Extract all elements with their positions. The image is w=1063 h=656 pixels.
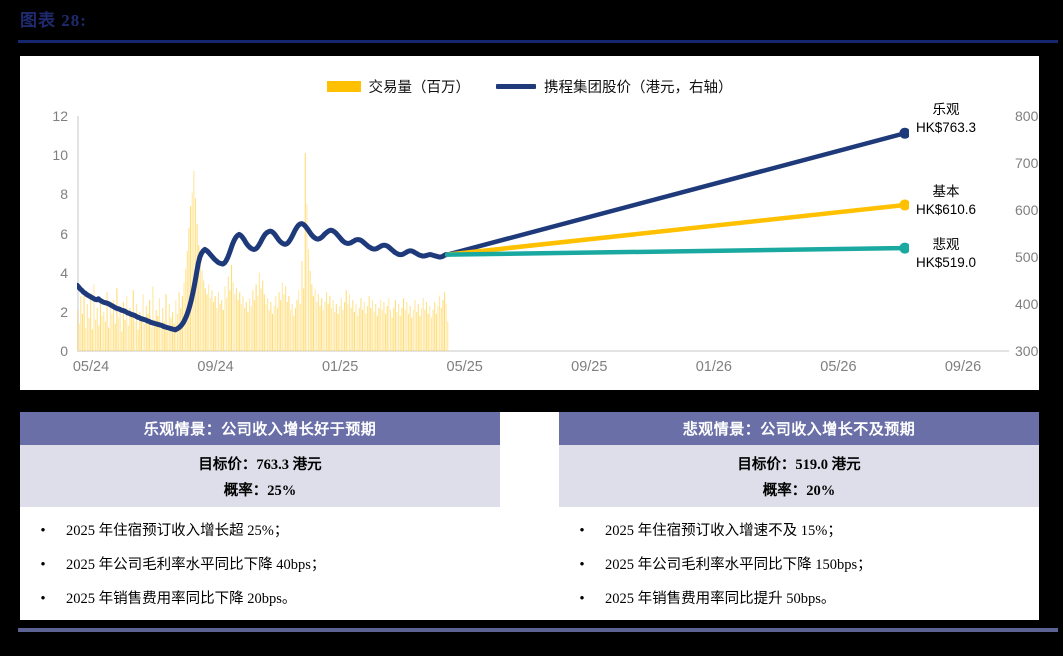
target-price-pessimistic: 目标价：519.0 港元	[737, 453, 860, 474]
y-axis-right-tick: 700	[1015, 155, 1038, 171]
page-title: 图表 28:	[20, 6, 87, 31]
slide-page: 图表 28: 交易量（百万） 携程集团股价（港元，右轴） 024681012 3…	[0, 0, 1063, 656]
forecast-endpoint-pessimistic	[899, 243, 909, 254]
list-item: • 2025 年销售费用率同比提升 50bps。	[559, 587, 1039, 608]
y-axis-left-tick: 6	[60, 226, 68, 242]
y-axis-right-ticks: 300400500600700800	[1015, 116, 1059, 351]
y-axis-left-tick: 10	[52, 147, 68, 163]
chart-plot-area	[77, 116, 909, 351]
list-item-text: 2025 年销售费用率同比下降 20bps。	[66, 587, 296, 608]
bullet-list-pessimistic: • 2025 年住宿预订收入增速不及 15%； • 2025 年公司毛利率水平同…	[559, 507, 1039, 620]
annotation-pessimistic-price: HK$519.0	[916, 254, 976, 272]
bullet-dot-icon: •	[559, 591, 605, 608]
chart-legend: 交易量（百万） 携程集团股价（港元，右轴）	[20, 76, 1039, 97]
bullet-dot-icon: •	[20, 591, 66, 608]
x-axis-tick: 09/24	[197, 359, 233, 375]
list-item-text: 2025 年住宿预订收入增长超 25%；	[66, 519, 288, 540]
forecast-line-optimistic	[447, 133, 905, 254]
bottom-divider	[18, 628, 1058, 632]
y-axis-left-tick: 8	[60, 186, 68, 202]
list-item: • 2025 年公司毛利率水平同比下降 40bps；	[20, 553, 500, 574]
y-axis-left-tick: 2	[60, 304, 68, 320]
list-item-text: 2025 年公司毛利率水平同比下降 40bps；	[66, 553, 325, 574]
scenario-header-optimistic: 乐观情景：公司收入增长好于预期	[20, 412, 500, 445]
bullet-list-optimistic: • 2025 年住宿预订收入增长超 25%； • 2025 年公司毛利率水平同比…	[20, 507, 500, 620]
probability-optimistic: 概率：25%	[224, 479, 297, 500]
x-axis-tick: 01/25	[322, 359, 358, 375]
y-axis-right-tick: 600	[1015, 202, 1038, 218]
scenario-column-optimistic: 乐观情景：公司收入增长好于预期 目标价：763.3 港元 概率：25% • 20…	[20, 412, 500, 620]
annotation-base: 基本 HK$610.6	[916, 183, 976, 219]
list-item: • 2025 年公司毛利率水平同比下降 150bps；	[559, 553, 1039, 574]
x-axis-tick: 09/26	[945, 359, 981, 375]
legend-item-volume: 交易量（百万）	[327, 76, 471, 97]
annotation-base-name: 基本	[916, 183, 976, 201]
list-item-text: 2025 年销售费用率同比提升 50bps。	[605, 587, 835, 608]
y-axis-right-tick: 400	[1015, 296, 1038, 312]
list-item: • 2025 年住宿预订收入增速不及 15%；	[559, 519, 1039, 540]
list-item-text: 2025 年公司毛利率水平同比下降 150bps；	[605, 553, 872, 574]
bullet-dot-icon: •	[20, 523, 66, 540]
annotation-pessimistic: 悲观 HK$519.0	[916, 236, 976, 272]
y-axis-right-tick: 300	[1015, 343, 1038, 359]
forecast-endpoint-base	[899, 200, 909, 211]
annotation-optimistic-price: HK$763.3	[916, 119, 976, 137]
chart-card: 交易量（百万） 携程集团股价（港元，右轴） 024681012 30040050…	[20, 56, 1039, 390]
x-axis-tick: 01/26	[696, 359, 732, 375]
scenario-table: 乐观情景：公司收入增长好于预期 目标价：763.3 港元 概率：25% • 20…	[20, 412, 1039, 620]
list-item: • 2025 年住宿预订收入增长超 25%；	[20, 519, 500, 540]
y-axis-left-tick: 0	[60, 343, 68, 359]
target-price-optimistic: 目标价：763.3 港元	[198, 453, 321, 474]
scenario-header-pessimistic: 悲观情景：公司收入增长不及预期	[559, 412, 1039, 445]
probability-pessimistic: 概率：20%	[763, 479, 836, 500]
x-axis-tick: 09/25	[571, 359, 607, 375]
legend-item-price: 携程集团股价（港元，右轴）	[496, 76, 733, 97]
title-divider	[18, 40, 1058, 43]
y-axis-left-tick: 12	[52, 108, 68, 124]
y-axis-right-tick: 500	[1015, 249, 1038, 265]
annotation-base-price: HK$610.6	[916, 201, 976, 219]
x-axis-tick: 05/26	[820, 359, 856, 375]
y-axis-right-tick: 800	[1015, 108, 1038, 124]
list-item: • 2025 年销售费用率同比下降 20bps。	[20, 587, 500, 608]
legend-label-price: 携程集团股价（港元，右轴）	[544, 76, 733, 97]
annotation-pessimistic-name: 悲观	[916, 236, 976, 254]
x-axis-tick: 05/25	[447, 359, 483, 375]
annotation-optimistic-name: 乐观	[916, 101, 976, 119]
scenario-summary-optimistic: 目标价：763.3 港元 概率：25%	[20, 445, 500, 507]
legend-swatch-volume-icon	[327, 81, 361, 92]
bullet-dot-icon: •	[559, 557, 605, 574]
bullet-dot-icon: •	[559, 523, 605, 540]
annotation-optimistic: 乐观 HK$763.3	[916, 101, 976, 137]
y-axis-left-tick: 4	[60, 265, 68, 281]
forecast-endpoint-optimistic	[899, 128, 909, 139]
table-column-gap	[500, 412, 559, 620]
list-item-text: 2025 年住宿预订收入增速不及 15%；	[605, 519, 842, 540]
legend-label-volume: 交易量（百万）	[369, 76, 471, 97]
bullet-dot-icon: •	[20, 557, 66, 574]
scenario-column-pessimistic: 悲观情景：公司收入增长不及预期 目标价：519.0 港元 概率：20% • 20…	[559, 412, 1039, 620]
y-axis-left-ticks: 024681012	[34, 116, 68, 351]
scenario-summary-pessimistic: 目标价：519.0 港元 概率：20%	[559, 445, 1039, 507]
legend-swatch-price-icon	[496, 84, 536, 89]
x-axis-tick: 05/24	[73, 359, 109, 375]
